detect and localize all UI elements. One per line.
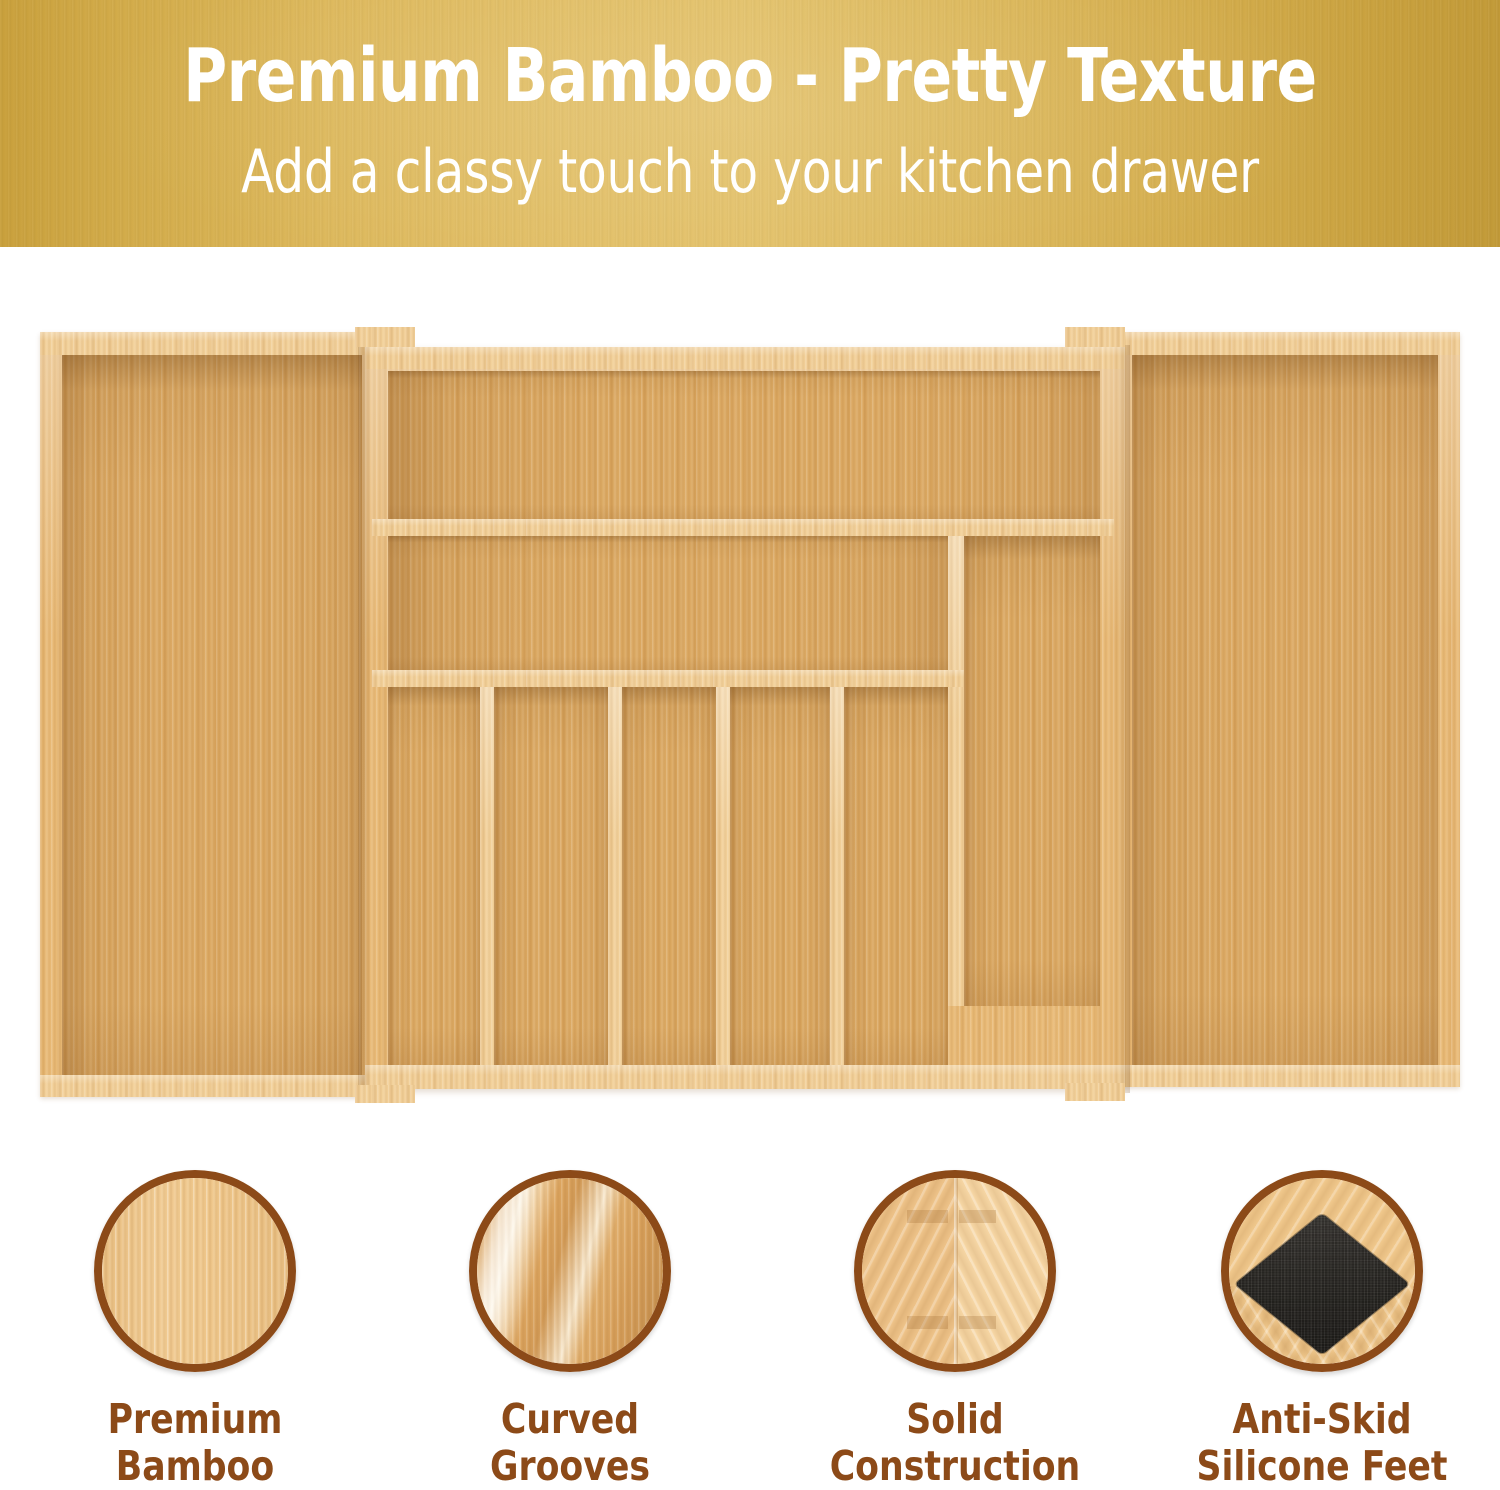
- cutlery-slot-1: [388, 687, 480, 1065]
- corner-joint-icon: [854, 1170, 1056, 1372]
- divider-middle: [372, 670, 964, 687]
- right-tall-compartment: [964, 536, 1100, 1006]
- feature-item-solid-construction[interactable]: Solid Construction: [805, 1150, 1105, 1490]
- right-joint-tab-top: [1065, 327, 1125, 347]
- right-joint-tab-bottom: [1065, 1083, 1125, 1101]
- slot-divider-2: [608, 687, 622, 1065]
- cutlery-slot-2: [494, 687, 608, 1065]
- left-slide-track: [358, 345, 370, 1093]
- left-joint-tab-bottom: [355, 1085, 415, 1103]
- feature-item-curved-grooves[interactable]: Curved Grooves: [420, 1150, 720, 1490]
- page-title: Premium Bamboo - Pretty Texture: [75, 34, 1425, 118]
- slot-divider-1: [480, 687, 494, 1065]
- silicone-foot-icon: [1221, 1170, 1423, 1372]
- slot-divider-4: [830, 687, 844, 1065]
- curved-groove-icon: [469, 1170, 671, 1372]
- feature-label-premium-bamboo: Premium Bamboo: [54, 1396, 336, 1490]
- left-joint-tab-top: [355, 327, 415, 347]
- right-wing-bottom-rail: [1110, 1065, 1460, 1087]
- left-wing-bottom-rail: [40, 1075, 385, 1097]
- right-wing-top-rail: [1110, 332, 1460, 355]
- core-top-rail: [365, 347, 1125, 369]
- bamboo-plank-icon: [94, 1170, 296, 1372]
- feature-strip: Premium Bamboo Curved Grooves: [0, 1150, 1500, 1463]
- slot-divider-3: [716, 687, 730, 1065]
- core-bottom-rail: [365, 1065, 1125, 1089]
- divider-top: [372, 519, 1114, 536]
- cutlery-slot-5: [844, 687, 948, 1065]
- middle-wide-compartment: [388, 536, 948, 670]
- cutlery-slot-3: [622, 687, 716, 1065]
- feature-label-anti-skid-feet: Anti-Skid Silicone Feet: [1181, 1396, 1463, 1490]
- left-wing-well: [62, 355, 362, 1075]
- right-wing-well: [1132, 355, 1438, 1065]
- header-banner: Premium Bamboo - Pretty Texture Add a cl…: [0, 0, 1500, 247]
- product-hero-image: [0, 247, 1500, 1147]
- cutlery-slot-4: [730, 687, 830, 1065]
- feature-label-curved-grooves: Curved Grooves: [429, 1396, 711, 1490]
- top-wide-compartment: [388, 371, 1100, 519]
- feature-item-anti-skid-feet[interactable]: Anti-Skid Silicone Feet: [1172, 1150, 1472, 1490]
- feature-item-premium-bamboo[interactable]: Premium Bamboo: [45, 1150, 345, 1490]
- right-slide-track: [1118, 345, 1130, 1093]
- page-subtitle: Add a classy touch to your kitchen drawe…: [75, 136, 1425, 208]
- feature-label-solid-construction: Solid Construction: [814, 1396, 1096, 1490]
- divider-vertical-right: [948, 536, 964, 1006]
- left-wing-top-rail: [40, 332, 385, 355]
